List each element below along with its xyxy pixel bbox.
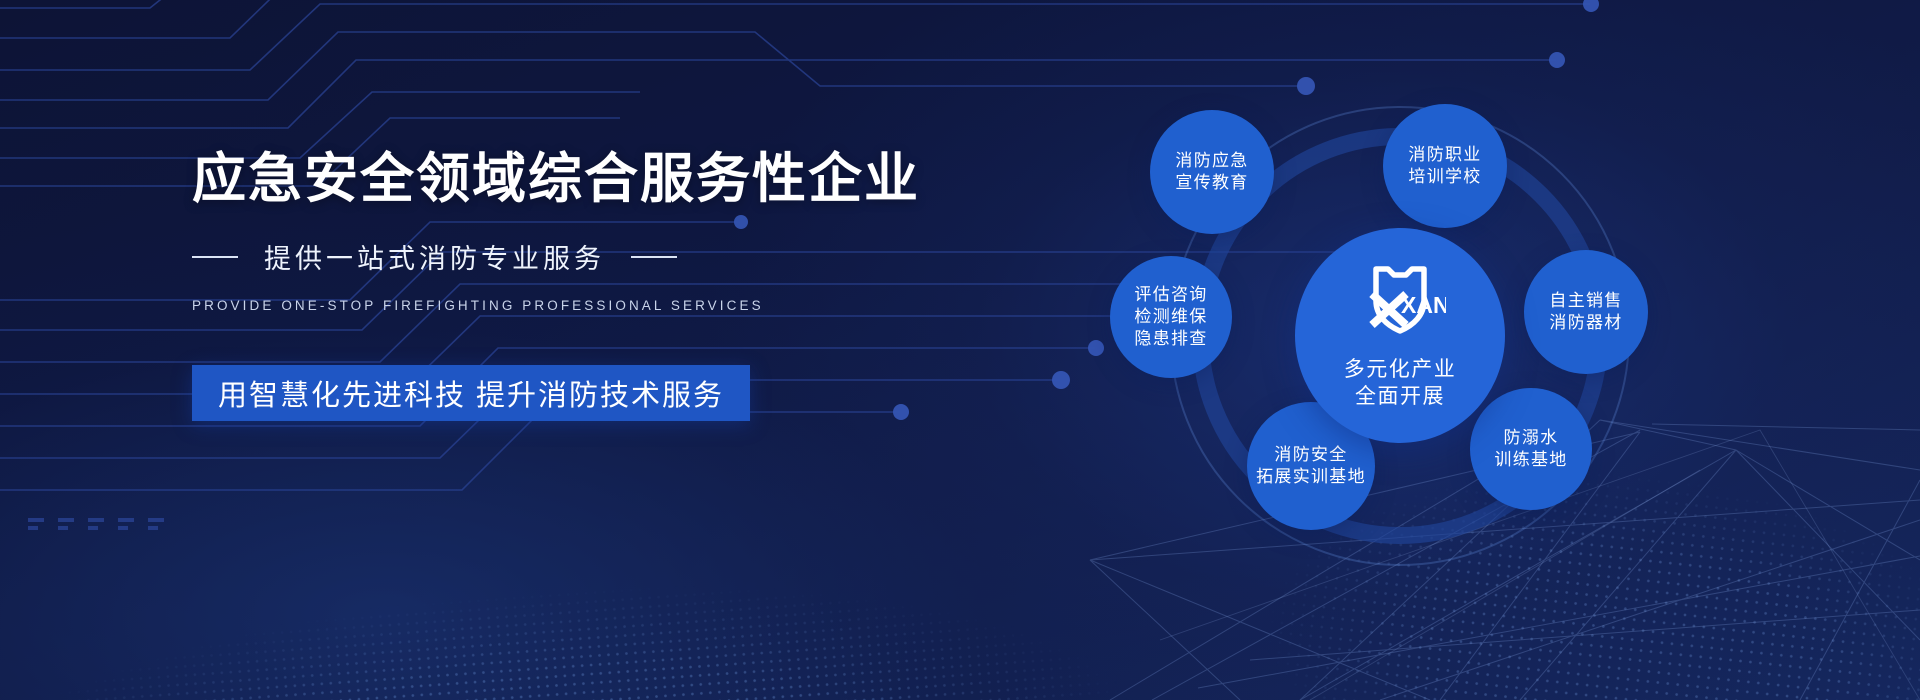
- bubble-line: 宣传教育: [1175, 172, 1248, 194]
- bubble-line: 隐患排查: [1134, 328, 1207, 350]
- bubble-line: 检测维保: [1134, 306, 1207, 328]
- bubble-line: 消防应急: [1175, 150, 1248, 172]
- bubble-line: 训练基地: [1494, 449, 1567, 471]
- center-line-1: 多元化产业: [1344, 356, 1457, 383]
- services-diagram: 消防应急 宣传教育 消防职业 培训学校 自主销售 消防器材 防溺水 训练基地 消…: [1130, 88, 1770, 618]
- center-line-2: 全面开展: [1344, 383, 1457, 410]
- bubble-line: 自主销售: [1549, 290, 1622, 312]
- dash-right-icon: [631, 256, 677, 258]
- bubble-line: 消防器材: [1549, 312, 1622, 334]
- diagram-bubble-anti-drowning-base[interactable]: 防溺水 训练基地: [1470, 388, 1592, 510]
- subtitle-row: 提供一站式消防专业服务: [192, 237, 932, 276]
- cta-button[interactable]: 用智慧化先进科技 提升消防技术服务: [192, 365, 750, 421]
- bubble-line: 培训学校: [1408, 166, 1481, 188]
- bubble-line: 消防安全: [1274, 444, 1347, 466]
- bubble-line: 评估咨询: [1134, 284, 1207, 306]
- logo-text: XAN: [1401, 292, 1446, 318]
- page-title: 应急安全领域综合服务性企业: [192, 150, 932, 209]
- diagram-bubble-fire-vocational-school[interactable]: 消防职业 培训学校: [1383, 104, 1507, 228]
- dash-left-icon: [192, 256, 238, 258]
- bubble-line: 消防职业: [1408, 144, 1481, 166]
- hero-banner: 应急安全领域综合服务性企业 提供一站式消防专业服务 PROVIDE ONE-ST…: [0, 0, 1920, 700]
- diagram-bubble-fire-emergency-education[interactable]: 消防应急 宣传教育: [1150, 110, 1274, 234]
- shield-logo: XAN: [1354, 261, 1446, 350]
- bubble-line: 防溺水: [1504, 427, 1559, 449]
- subtitle: 提供一站式消防专业服务: [264, 237, 605, 276]
- bubble-line: 拓展实训基地: [1256, 466, 1366, 488]
- diagram-center-node[interactable]: XAN 多元化产业 全面开展: [1295, 228, 1505, 443]
- english-tagline: PROVIDE ONE-STOP FIREFIGHTING PROFESSION…: [192, 298, 932, 313]
- center-node-label: 多元化产业 全面开展: [1344, 356, 1457, 411]
- diagram-bubble-assessment-inspection[interactable]: 评估咨询 检测维保 隐患排查: [1110, 256, 1232, 378]
- shield-icon: XAN: [1354, 261, 1446, 345]
- diagram-bubble-equipment-sales[interactable]: 自主销售 消防器材: [1524, 250, 1648, 374]
- hero-text-block: 应急安全领域综合服务性企业 提供一站式消防专业服务 PROVIDE ONE-ST…: [192, 150, 932, 421]
